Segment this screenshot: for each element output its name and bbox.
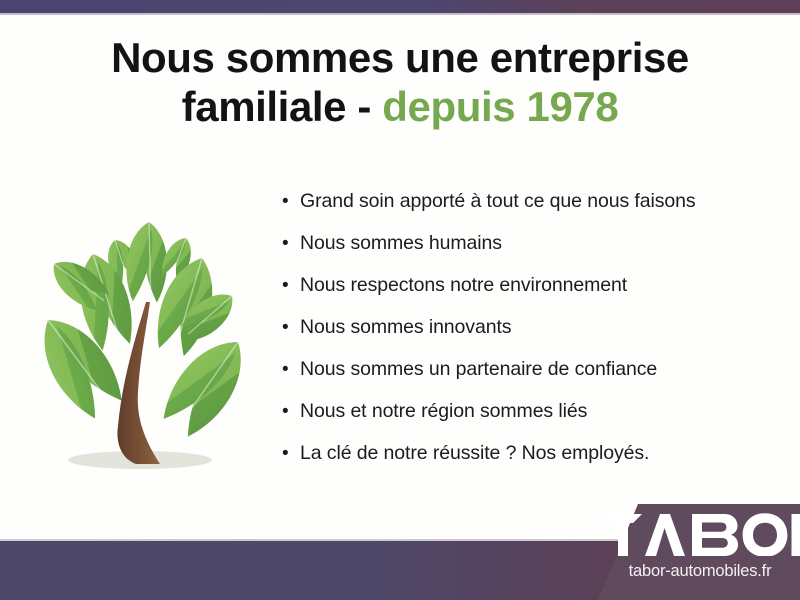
brand-logo[interactable]: tabor-automobiles.fr: [600, 508, 800, 600]
bullet-dot-icon: •: [282, 192, 300, 211]
list-item-label: La clé de notre réussite ? Nos employés.: [300, 442, 649, 465]
list-item-label: Nous sommes un partenaire de confiance: [300, 358, 657, 381]
bullet-dot-icon: •: [282, 444, 300, 463]
list-item-label: Nous sommes innovants: [300, 316, 511, 339]
top-accent-band-edge: [0, 13, 800, 15]
title-line-2: familiale - depuis 1978: [0, 83, 800, 130]
page-title: Nous sommes une entreprise familiale - d…: [0, 34, 800, 130]
title-line-1: Nous sommes une entreprise: [0, 34, 800, 81]
values-bullet-list: • Grand soin apporté à tout ce que nous …: [282, 190, 782, 484]
list-item: • Nous respectons notre environnement: [282, 274, 782, 316]
bullet-dot-icon: •: [282, 318, 300, 337]
title-line-2-green: depuis 1978: [382, 83, 618, 130]
title-line-2-black: familiale -: [182, 83, 383, 130]
tabor-wordmark-icon: [600, 512, 800, 556]
bullet-dot-icon: •: [282, 234, 300, 253]
list-item: • Nous sommes humains: [282, 232, 782, 274]
list-item: • Nous sommes un partenaire de confiance: [282, 358, 782, 400]
tree-illustration: [18, 192, 268, 492]
bullet-dot-icon: •: [282, 360, 300, 379]
list-item: • Nous et notre région sommes liés: [282, 400, 782, 442]
list-item-label: Nous et notre région sommes liés: [300, 400, 587, 423]
bullet-dot-icon: •: [282, 276, 300, 295]
bullet-dot-icon: •: [282, 402, 300, 421]
list-item: • La clé de notre réussite ? Nos employé…: [282, 442, 782, 484]
brand-url[interactable]: tabor-automobiles.fr: [602, 562, 798, 581]
top-accent-band: [0, 0, 800, 13]
list-item: • Nous sommes innovants: [282, 316, 782, 358]
slide-canvas: Nous sommes une entreprise familiale - d…: [0, 0, 800, 600]
list-item: • Grand soin apporté à tout ce que nous …: [282, 190, 782, 232]
list-item-label: Nous respectons notre environnement: [300, 274, 627, 297]
list-item-label: Nous sommes humains: [300, 232, 502, 255]
list-item-label: Grand soin apporté à tout ce que nous fa…: [300, 190, 696, 213]
